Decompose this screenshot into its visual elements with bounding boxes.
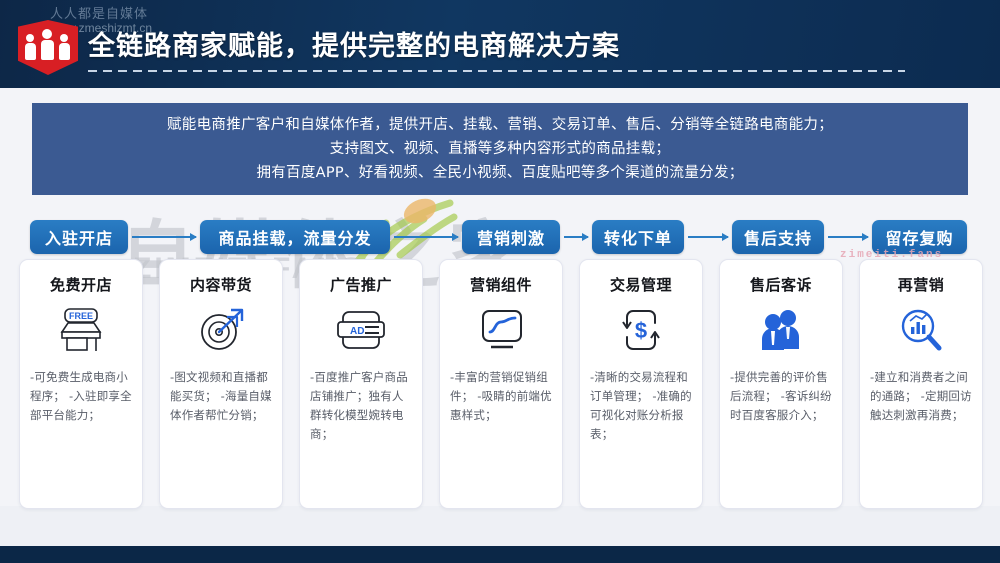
flow-badge-3[interactable]: 营销刺激 — [462, 220, 560, 254]
flow-arrow-5 — [828, 236, 868, 238]
card-title: 内容带货 — [190, 274, 252, 295]
card-desc: -建立和消费者之间的通路； -定期回访触达刺激再消费； — [860, 368, 982, 425]
svg-text:FREE: FREE — [69, 311, 93, 321]
dollar-cycle-icon: $ — [612, 306, 670, 354]
slide-root: 人人都是自媒体 www.zmeshizmt.cn 全链路商家赋能 — [0, 0, 1000, 563]
card-title: 免费开店 — [50, 274, 112, 295]
card-title: 交易管理 — [610, 274, 672, 295]
card-content-commerce[interactable]: 内容带货 -图文视频和直播都能买货； -海量自媒体作者帮忙分销； — [159, 259, 283, 509]
header-watermark-line1: 人人都是自媒体 — [50, 6, 152, 21]
card-remarketing[interactable]: 再营销 -建立和消费者之间的通路； -定期回访触达刺激再消费； — [859, 259, 983, 509]
card-desc: -图文视频和直播都能买货； -海量自媒体作者帮忙分销； — [160, 368, 282, 425]
intro-line-3: 拥有百度APP、好看视频、全民小视频、百度贴吧等多个渠道的流量分发； — [256, 161, 743, 185]
three-people-icon — [26, 29, 70, 61]
ad-card-icon: AD — [332, 306, 390, 354]
card-title: 广告推广 — [330, 274, 392, 295]
card-ad-promotion[interactable]: 广告推广 AD -百度推广客户商品店铺推广；独有人群转化模型婉转电商； — [299, 259, 423, 509]
header-divider — [88, 70, 905, 72]
intro-panel: 赋能电商推广客户和自媒体作者，提供开店、挂载、营销、交易订单、售后、分销等全链路… — [32, 103, 968, 195]
card-desc: -丰富的营销促销组件； -吸睛的前端优惠样式； — [440, 368, 562, 425]
magnifier-chart-icon — [892, 306, 950, 354]
card-title: 营销组件 — [470, 274, 532, 295]
flow-badge-4[interactable]: 转化下单 — [592, 220, 684, 254]
card-after-sales[interactable]: 售后客诉 -提供完善的评价售后流程； -客诉纠纷时百度客服介入； — [719, 259, 843, 509]
flow-badge-6[interactable]: 留存复购 — [872, 220, 967, 254]
card-desc: -清晰的交易流程和订单管理； -准确的可视化对账分析报表； — [580, 368, 702, 444]
intro-line-1: 赋能电商推广客户和自媒体作者，提供开店、挂载、营销、交易订单、售后、分销等全链路… — [167, 113, 833, 137]
bottom-bar — [0, 546, 1000, 563]
flow-badge-2[interactable]: 商品挂载，流量分发 — [200, 220, 390, 254]
card-title: 再营销 — [898, 274, 945, 295]
card-transaction-management[interactable]: 交易管理 $ -清晰的交易流程和订单管理； -准确的可视化对账分析报表； — [579, 259, 703, 509]
card-marketing-components[interactable]: 营销组件 -丰富的营销促销组件； -吸睛的前端优惠样式； — [439, 259, 563, 509]
flow-arrow-3 — [564, 236, 588, 238]
card-title: 售后客诉 — [750, 274, 812, 295]
intro-line-2: 支持图文、视频、直播等多种内容形式的商品挂载； — [330, 137, 670, 161]
process-flow: 入驻开店 商品挂载，流量分发 营销刺激 转化下单 售后支持 留存复购 — [0, 220, 1000, 256]
two-people-icon — [752, 306, 810, 354]
flow-arrow-2 — [394, 236, 458, 238]
flow-arrow-4 — [688, 236, 728, 238]
bottom-strip — [0, 506, 1000, 546]
page-title: 全链路商家赋能，提供完整的电商解决方案 — [88, 24, 620, 63]
card-free-shop[interactable]: 免费开店 FREE -可免费生成电商小程序； -入驻即享全部平台能力； — [19, 259, 143, 509]
logo — [18, 20, 78, 75]
flow-badge-1[interactable]: 入驻开店 — [30, 220, 128, 254]
target-arrow-icon — [192, 306, 250, 354]
flow-arrow-1 — [132, 236, 196, 238]
feature-cards: 免费开店 FREE -可免费生成电商小程序； -入驻即享全部平台能力； 内容带货 — [0, 259, 1000, 509]
svg-text:$: $ — [635, 318, 647, 343]
card-desc: -可免费生成电商小程序； -入驻即享全部平台能力； — [20, 368, 142, 425]
header-bar: 人人都是自媒体 www.zmeshizmt.cn 全链路商家赋能 — [0, 0, 1000, 88]
svg-text:AD: AD — [350, 326, 364, 337]
card-desc: -提供完善的评价售后流程； -客诉纠纷时百度客服介入； — [720, 368, 842, 425]
free-shop-icon: FREE — [52, 306, 110, 354]
flow-badge-5[interactable]: 售后支持 — [732, 220, 824, 254]
chart-monitor-icon — [472, 306, 530, 354]
card-desc: -百度推广客户商品店铺推广；独有人群转化模型婉转电商； — [300, 368, 422, 444]
